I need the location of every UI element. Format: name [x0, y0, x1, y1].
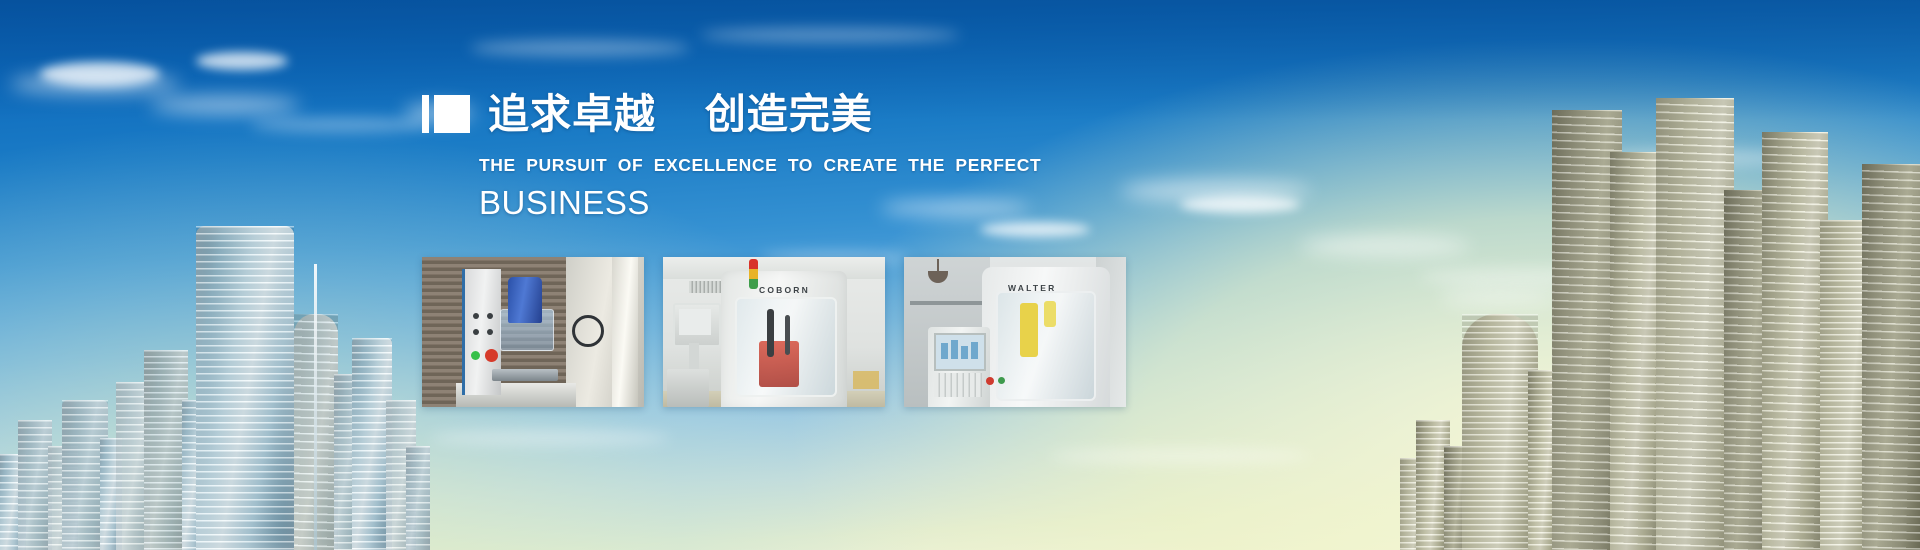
- storage-box: [853, 371, 879, 389]
- machine-brand-label: COBORN: [759, 285, 810, 295]
- building-tall-slab: [1656, 98, 1734, 550]
- headline-copy-block: 追求卓越 创造完美 THE PURSUIT OF EXCELLENCE TO C…: [422, 88, 1142, 222]
- photo-walter-cnc[interactable]: WALTER: [904, 257, 1126, 407]
- handwheel: [572, 315, 604, 347]
- emergency-stop-button: [485, 349, 498, 362]
- monitor-stand: [689, 343, 699, 369]
- machine-base: [492, 369, 558, 381]
- photo-coborn-machine[interactable]: COBORN: [663, 257, 885, 407]
- ceiling-pipe: [910, 301, 990, 305]
- building-round-tower: [1462, 314, 1538, 550]
- spindle-arm: [785, 315, 790, 355]
- page-title: 追求卓越 创造完美: [488, 92, 873, 136]
- building-hero-glass-tower: [196, 226, 294, 550]
- building: [1862, 164, 1920, 550]
- cloud: [196, 52, 288, 70]
- spindle-arm: [767, 309, 774, 357]
- cloud: [1050, 448, 1310, 464]
- red-workpiece: [759, 341, 799, 387]
- cloud: [430, 430, 670, 446]
- start-button: [998, 377, 1005, 384]
- cityscape-right: [1400, 80, 1920, 550]
- machine-brand-label: WALTER: [1008, 283, 1056, 293]
- screen-bar: [941, 343, 948, 359]
- screen-bar: [951, 340, 958, 359]
- side-cabinet: [667, 369, 709, 407]
- hero-banner: 追求卓越 创造完美 THE PURSUIT OF EXCELLENCE TO C…: [0, 0, 1920, 550]
- cloud: [10, 74, 180, 94]
- yellow-fixture: [1020, 303, 1038, 357]
- cloud: [1180, 196, 1300, 213]
- white-column: [612, 257, 638, 407]
- screen-bar: [971, 342, 978, 359]
- cityscape-left: [0, 130, 430, 550]
- antenna-spire: [314, 264, 317, 550]
- building: [18, 420, 52, 550]
- cloud: [150, 96, 300, 114]
- headline-right-text: 创造完美: [705, 91, 873, 137]
- screen-bar: [961, 346, 968, 359]
- led-dark: [473, 329, 479, 335]
- business-word: BUSINESS: [479, 184, 1142, 222]
- cloud: [980, 222, 1090, 237]
- building: [406, 446, 430, 550]
- monitor-screen: [679, 309, 711, 335]
- emergency-stop-button: [986, 377, 994, 385]
- keypad: [934, 373, 982, 397]
- subtitle-english: THE PURSUIT OF EXCELLENCE TO CREATE THE …: [479, 155, 1142, 175]
- stack-light-tower: [749, 259, 758, 289]
- photo-strip: COBORN WALTER: [422, 257, 1126, 407]
- bar-mark-icon: [422, 95, 470, 133]
- headline-left-text: 追求卓越: [488, 91, 656, 137]
- cloud: [700, 28, 960, 42]
- headline-row: 追求卓越 创造完美: [422, 88, 1142, 140]
- building: [1762, 132, 1828, 550]
- led-green: [471, 351, 480, 360]
- yellow-fixture: [1044, 301, 1056, 327]
- photo-surface-grinder[interactable]: [422, 257, 644, 407]
- grinding-head: [508, 277, 542, 323]
- console-screen: [934, 333, 986, 371]
- led-dark: [487, 329, 493, 335]
- led-dark: [487, 313, 493, 319]
- led-red: [473, 313, 479, 319]
- cloud: [470, 40, 690, 56]
